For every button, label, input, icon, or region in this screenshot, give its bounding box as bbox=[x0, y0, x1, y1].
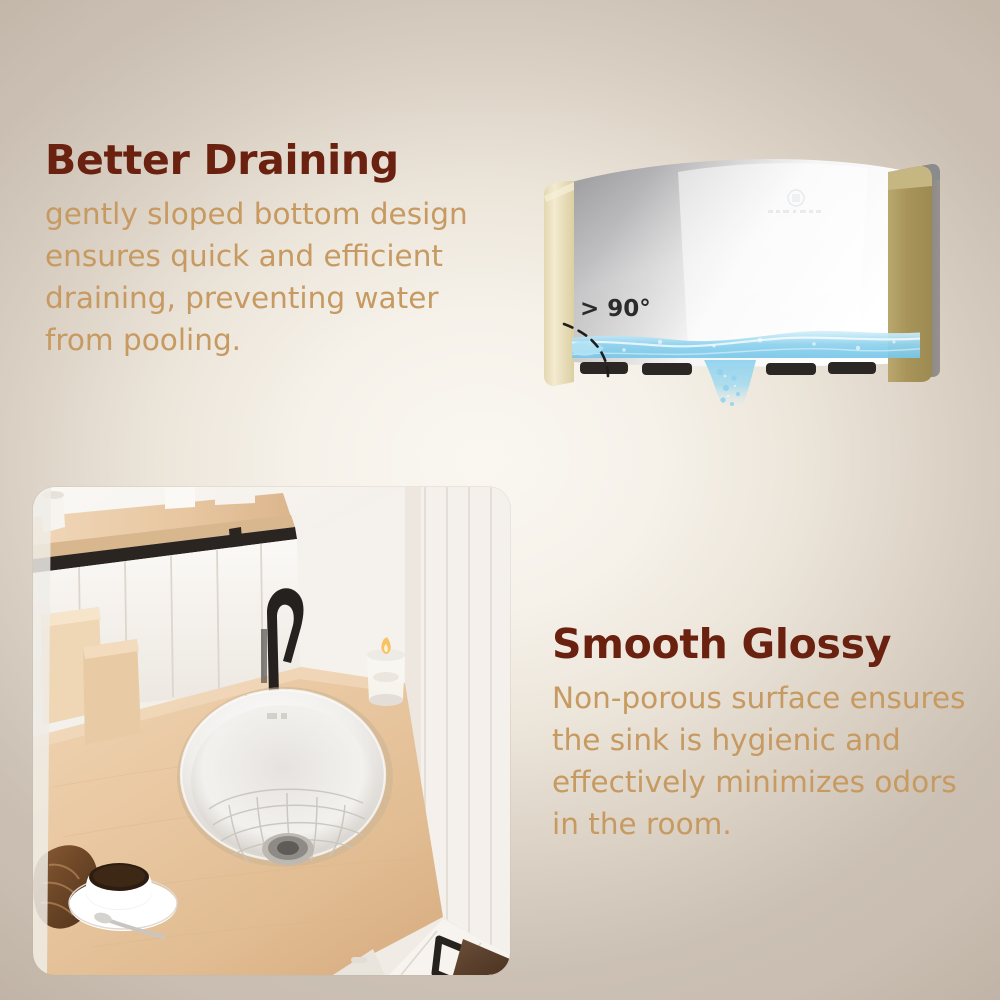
feature-heading-smooth-glossy: Smooth Glossy bbox=[552, 622, 972, 666]
kitchen-sink-lifestyle-photo bbox=[33, 487, 510, 975]
feature-heading-better-draining: Better Draining bbox=[45, 138, 475, 182]
feature-body-better-draining: gently sloped bottom design ensures quic… bbox=[45, 194, 475, 362]
round-undermount-sink bbox=[177, 687, 393, 867]
sink-bowl-emblem bbox=[267, 713, 287, 719]
feature-block-better-draining: Better Draining gently sloped bottom des… bbox=[45, 138, 475, 362]
sink-frame-left bbox=[544, 181, 574, 386]
falling-water-stream bbox=[704, 360, 756, 406]
feature-block-smooth-glossy: Smooth Glossy Non-porous surface ensures… bbox=[552, 622, 972, 846]
sloped-sink-cutaway-diagram: > 90° bbox=[528, 146, 948, 406]
angle-annotation-label: > 90° bbox=[580, 296, 651, 322]
product-feature-infographic: Better Draining gently sloped bottom des… bbox=[0, 0, 1000, 1000]
feature-body-smooth-glossy: Non-porous surface ensures the sink is h… bbox=[552, 678, 972, 846]
drain-strainer bbox=[262, 833, 314, 865]
